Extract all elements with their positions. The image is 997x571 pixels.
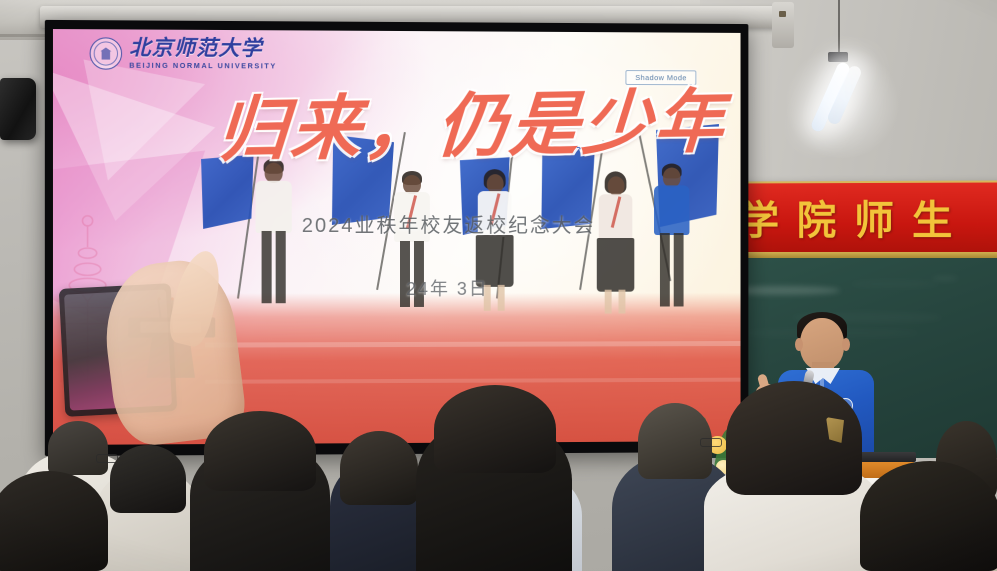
stage-person <box>650 164 693 313</box>
stage-person <box>593 171 638 316</box>
wall-speaker <box>0 78 36 140</box>
audience-person <box>330 431 426 571</box>
slide-subtitle: 2024业秩年校友返校纪念大会 <box>302 209 595 238</box>
wall-banner: 学 院 师 生 <box>725 180 997 262</box>
audience-person <box>860 451 997 571</box>
screen-roller-bracket <box>779 11 786 17</box>
audience-person <box>190 411 330 571</box>
audience-person <box>96 445 200 571</box>
banner-char: 院 <box>797 201 836 241</box>
slide-date: 24年 3日 <box>406 275 489 301</box>
audience-person <box>0 471 108 571</box>
bnu-seal-icon <box>90 37 122 69</box>
shadow-mode-badge[interactable]: Shadow Mode <box>625 70 696 85</box>
slide-headline: 归来，仍是少年 <box>214 89 698 167</box>
banner-char: 师 <box>854 201 894 241</box>
audience-person <box>704 381 882 571</box>
stage-person <box>252 159 296 308</box>
university-name-en: BEIJING NORMAL UNIVERSITY <box>129 61 277 71</box>
screen-roller-cap <box>772 2 794 48</box>
university-name-cn: 北京师范大学 <box>129 38 277 60</box>
audience-person <box>416 385 572 571</box>
photo-scene: 学 院 师 生 <box>0 0 997 571</box>
banner-char: 生 <box>912 201 952 241</box>
bnu-logo: 北京师范大学 BEIJING NORMAL UNIVERSITY <box>90 37 277 70</box>
